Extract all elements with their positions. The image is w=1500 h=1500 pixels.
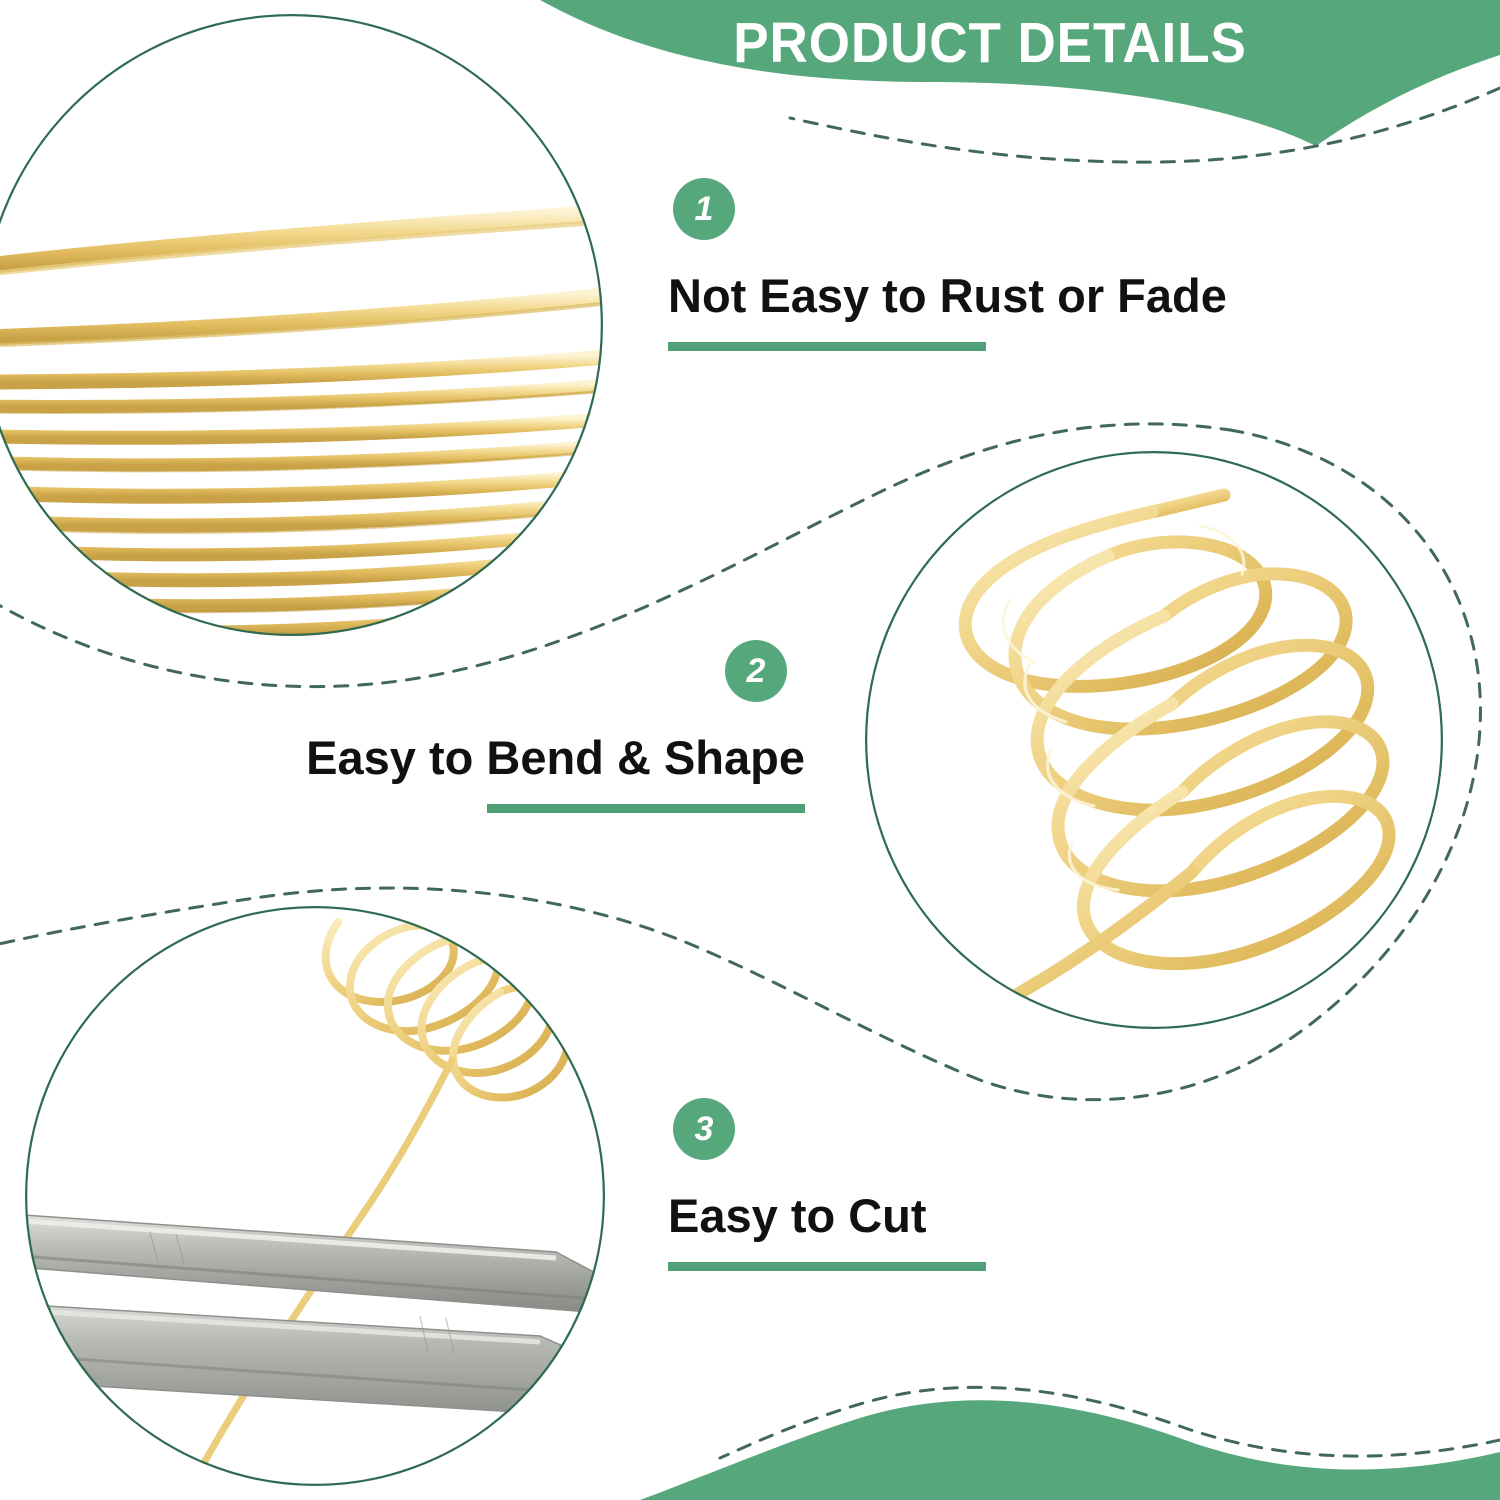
feature-underline-3 [668, 1262, 986, 1271]
photo-gold-wire-strands [0, 10, 635, 685]
product-details-infographic: PRODUCT DETAILS 1 Not Easy to Rust or Fa… [0, 0, 1500, 1500]
photo-gold-wire-spiral [860, 446, 1460, 1046]
feature-title-1: Not Easy to Rust or Fade [668, 270, 1227, 322]
feature-underline-1 [668, 342, 986, 351]
photo-cutting-wire [0, 900, 648, 1500]
feature-block-3: 3 Easy to Cut [668, 1098, 986, 1271]
feature-title-2: Easy to Bend & Shape [255, 732, 805, 784]
feature-number-badge-2: 2 [725, 640, 787, 702]
feature-number-badge-1: 1 [673, 178, 735, 240]
feature-number-badge-3: 3 [673, 1098, 735, 1160]
page-title: PRODUCT DETAILS [665, 10, 1316, 76]
footer-wave-shape [640, 1400, 1500, 1500]
feature-block-2: 2 Easy to Bend & Shape [255, 640, 805, 813]
feature-title-3: Easy to Cut [668, 1190, 986, 1242]
feature-block-1: 1 Not Easy to Rust or Fade [668, 178, 1227, 351]
feature-underline-2 [487, 804, 805, 813]
